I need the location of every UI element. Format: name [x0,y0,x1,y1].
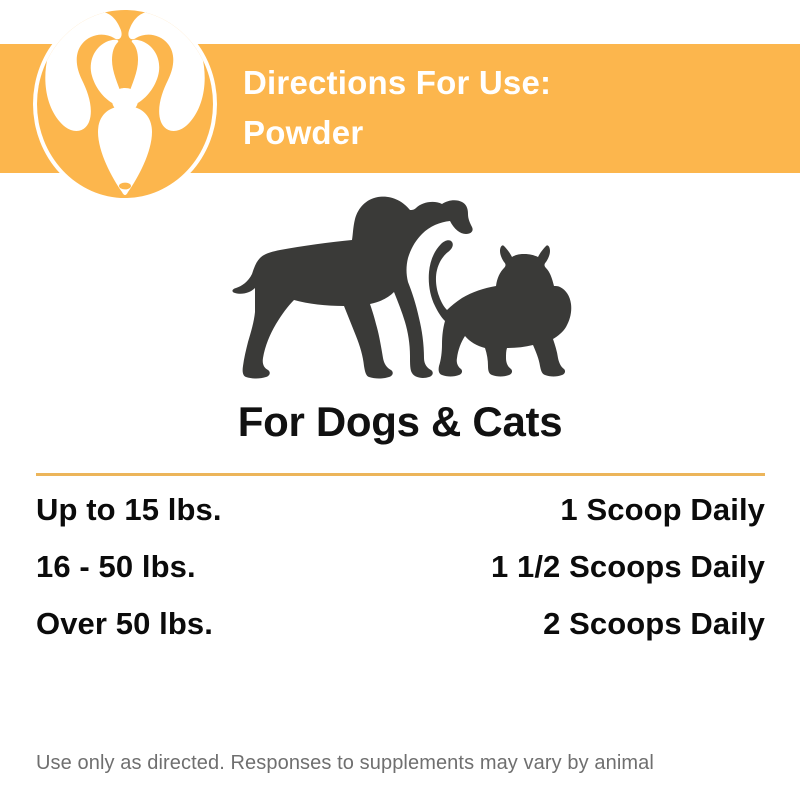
dosage-amount: 1 1/2 Scoops Daily [491,549,765,585]
header-title: Directions For Use: Powder [243,58,763,158]
directions-for-use-infographic: Directions For Use: Powder [0,0,800,800]
section-divider [36,473,765,476]
dosage-weight: Over 50 lbs. [36,606,213,642]
dosage-weight: 16 - 50 lbs. [36,549,196,585]
dog-and-cat-silhouette-icon [224,192,596,390]
table-row: Over 50 lbs. 2 Scoops Daily [36,606,765,663]
dosage-weight: Up to 15 lbs. [36,492,222,528]
dosage-table: Up to 15 lbs. 1 Scoop Daily 16 - 50 lbs.… [36,492,765,663]
section-title: For Dogs & Cats [0,398,800,446]
dosage-amount: 1 Scoop Daily [560,492,765,528]
dosage-amount: 2 Scoops Daily [543,606,765,642]
deer-head-logo-icon [32,6,218,202]
header-title-line-2: Powder [243,108,763,158]
disclaimer-text: Use only as directed. Responses to suppl… [36,752,776,775]
table-row: Up to 15 lbs. 1 Scoop Daily [36,492,765,549]
table-row: 16 - 50 lbs. 1 1/2 Scoops Daily [36,549,765,606]
header-title-line-1: Directions For Use: [243,58,763,108]
